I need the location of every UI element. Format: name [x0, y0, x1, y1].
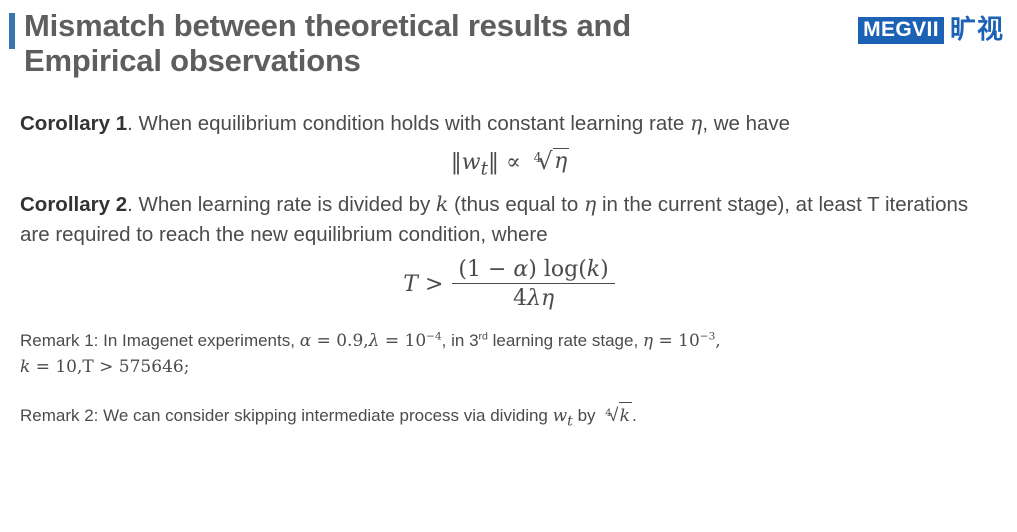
formula-2-den-4: 4 [513, 286, 527, 311]
remark-1-ordinal-suffix: rd [479, 331, 488, 343]
remark-1-lambda-exponent: −4 [426, 331, 442, 343]
remark-1-mid: , in 3 [442, 331, 479, 350]
megvii-wordmark: MEGVII [858, 17, 944, 44]
formula-2-num-log: ) log( [528, 257, 587, 282]
formula-corollary-1: ‖wt‖ ∝ 4√η [20, 147, 1000, 179]
remark-2-prefix: Remark 2: We can consider skipping inter… [20, 406, 553, 425]
corollary-2-text-a: . When learning rate is divided by [127, 193, 436, 216]
formula-1-lhs-close: ‖ [488, 150, 499, 175]
corollary-2-text-b: (thus equal to [448, 193, 584, 216]
page-title-line-2: Empirical observations [24, 43, 834, 78]
remark-2-radicand: k [619, 402, 632, 429]
remark-2-w: w [553, 406, 568, 426]
formula-1-radicand: η [553, 148, 569, 174]
formula-2-num-open: (1 − [458, 257, 513, 282]
remark-1-comma: , [715, 331, 720, 351]
corollary-1-eta-symbol: η [690, 111, 702, 135]
formula-1-relation: ∝ [506, 150, 521, 175]
slide-header: Mismatch between theoretical results and… [0, 0, 1017, 92]
remark-1-alpha-value: = 0.9, [311, 331, 369, 351]
remark-2: Remark 2: We can consider skipping inter… [20, 402, 1000, 434]
corollary-2-eta-symbol: η [584, 192, 596, 216]
remark-1-eta-exponent: −3 [700, 331, 716, 343]
formula-2-den-eta: η [541, 286, 554, 311]
remark-1-lambda: λ [369, 331, 380, 351]
remark-2-period: . [632, 406, 637, 425]
formula-2-fraction: (1 − α) log(k) 4λη [452, 257, 614, 311]
formula-2-denominator: 4λη [452, 284, 614, 311]
formula-2-lhs: T [403, 272, 418, 297]
title-accent-bar [9, 13, 15, 49]
corollary-2-k-symbol: k [436, 192, 448, 216]
radical-icon: √ [537, 147, 552, 175]
corollary-1-text-b: , we have [702, 112, 790, 135]
formula-2-num-end: ) [600, 257, 609, 282]
remark-1-T-value: > 575646; [94, 357, 190, 377]
corollary-1-paragraph: Corollary 1. When equilibrium condition … [20, 108, 1000, 139]
page-title: Mismatch between theoretical results and… [24, 8, 834, 78]
megvii-logo: MEGVII 旷视 [858, 14, 1004, 46]
formula-2-relation: > [425, 272, 443, 297]
remark-1: Remark 1: In Imagenet experiments, α = 0… [20, 328, 1000, 380]
remark-1-k: k [20, 357, 30, 377]
corollary-1-text-a: . When equilibrium condition holds with … [127, 112, 690, 135]
formula-corollary-2: T > (1 − α) log(k) 4λη [20, 258, 1000, 312]
slide-body: Corollary 1. When equilibrium condition … [20, 108, 1000, 435]
corollary-2-paragraph: Corollary 2. When learning rate is divid… [20, 189, 1000, 250]
remark-2-nth-root: 4√k [600, 402, 632, 432]
remark-1-eta-eq: = 10 [653, 331, 700, 351]
formula-2-den-lambda: λ [527, 286, 541, 311]
remark-1-T: T [82, 357, 93, 377]
corollary-1-label: Corollary 1 [20, 112, 127, 135]
megvii-chinese-name: 旷视 [950, 16, 1004, 44]
corollary-2-label: Corollary 2 [20, 193, 127, 216]
remark-2-by: by [573, 406, 600, 425]
radical-icon: √ [608, 404, 618, 425]
remark-1-lambda-eq: = 10 [379, 331, 426, 351]
remark-1-prefix: Remark 1: In Imagenet experiments, [20, 331, 300, 350]
remark-1-alpha: α [300, 331, 311, 351]
remark-1-mid-2: learning rate stage, [488, 331, 643, 350]
formula-1-nth-root: 4√η [528, 147, 569, 175]
formula-2-num-k: k [587, 257, 600, 282]
remark-1-k-value: = 10, [30, 357, 82, 377]
formula-1-lhs: ‖w [451, 150, 481, 175]
page-title-line-1: Mismatch between theoretical results and [24, 8, 834, 43]
formula-2-num-alpha: α [513, 257, 528, 282]
formula-1-lhs-subscript: t [481, 158, 488, 179]
remark-1-eta: η [643, 331, 653, 351]
formula-2-numerator: (1 − α) log(k) [452, 257, 614, 284]
